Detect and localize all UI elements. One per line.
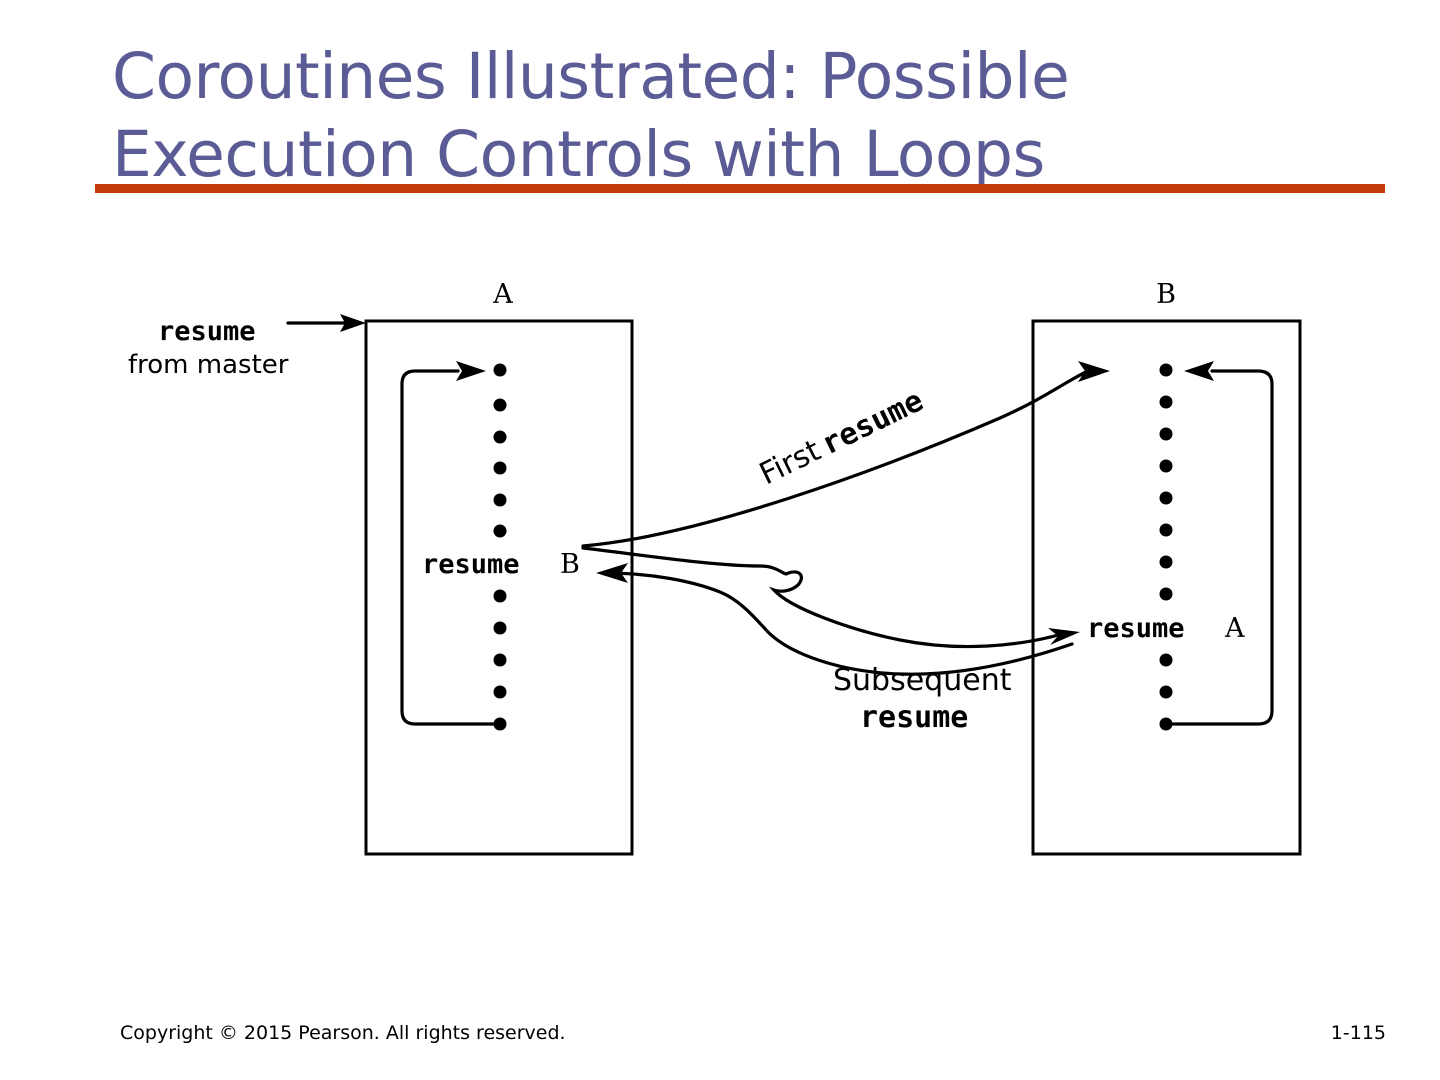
statement-dot: [494, 718, 507, 731]
box-a-dots-below: [494, 590, 507, 731]
box-b-loop-path: [1166, 371, 1272, 724]
first-resume-transfer: First resume: [583, 361, 1110, 546]
box-a-statement-keyword: resume: [422, 549, 520, 580]
footer-copyright: Copyright © 2015 Pearson. All rights res…: [120, 1022, 566, 1044]
box-b-dots-above: [1160, 364, 1173, 601]
subsequent-resume-prefix-label: Subsequent: [833, 663, 1012, 698]
entry-from-master-label: from master: [128, 350, 289, 380]
statement-dot: [1160, 492, 1173, 505]
subsequent-resume-curve-out: [583, 548, 1062, 647]
statement-dot: [1160, 556, 1173, 569]
box-b-dots-below: [1160, 654, 1173, 731]
statement-dot: [494, 686, 507, 699]
box-a-title: A: [492, 279, 513, 310]
statement-dot: [494, 590, 507, 603]
footer-page-number: 1-115: [1331, 1022, 1386, 1044]
subsequent-resume-transfer: Subsequent resume: [583, 548, 1080, 735]
statement-dot: [494, 431, 507, 444]
coroutine-box-a: A resume B: [366, 279, 632, 854]
statement-dot: [494, 399, 507, 412]
statement-dot: [1160, 460, 1173, 473]
statement-dot: [494, 494, 507, 507]
box-b-statement-operand: A: [1224, 613, 1245, 644]
box-b-title: B: [1156, 279, 1176, 310]
statement-dot: [1160, 654, 1173, 667]
statement-dot: [1160, 718, 1173, 731]
box-a-loop-arrow-head: [456, 361, 486, 381]
coroutine-box-b: B resume A: [1033, 279, 1300, 854]
statement-dot: [1160, 524, 1173, 537]
box-a-statement-operand: B: [560, 549, 580, 580]
box-a-dots-above: [494, 364, 507, 538]
statement-dot: [1160, 686, 1173, 699]
statement-dot: [1160, 588, 1173, 601]
statement-dot: [494, 622, 507, 635]
statement-dot: [1160, 396, 1173, 409]
box-b-loop-arrow-head: [1184, 361, 1214, 381]
statement-dot: [494, 462, 507, 475]
box-b-statement-keyword: resume: [1087, 613, 1185, 644]
first-resume-keyword-label: resume: [816, 383, 929, 462]
first-resume-arrow-head: [1078, 361, 1110, 382]
box-a-loop-path: [402, 371, 500, 724]
statement-dot: [494, 525, 507, 538]
entry-resume-arrow-group: resume from master: [128, 314, 366, 380]
entry-resume-keyword: resume: [158, 316, 256, 347]
statement-dot: [494, 654, 507, 667]
statement-dot: [1160, 364, 1173, 377]
statement-dot: [494, 364, 507, 377]
coroutine-diagram: resume from master A resume B: [0, 0, 1440, 1000]
statement-dot: [1160, 428, 1173, 441]
first-resume-prefix-label: First: [754, 433, 826, 492]
subsequent-resume-keyword-label: resume: [860, 700, 968, 735]
